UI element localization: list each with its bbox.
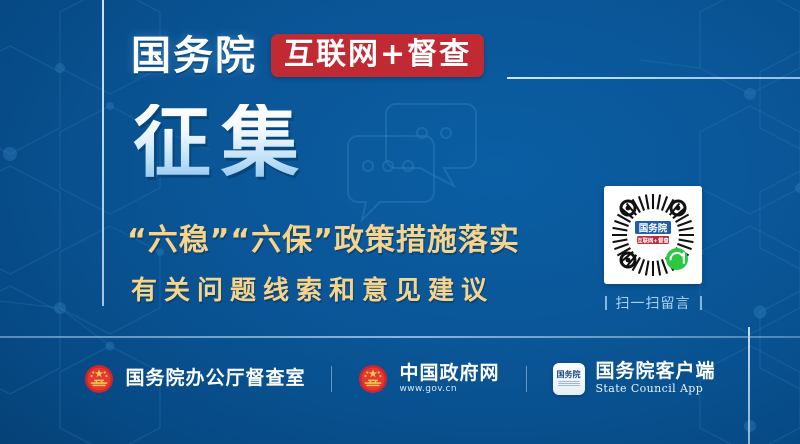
svg-text:互联网+督查: 互联网+督查 (637, 236, 669, 244)
qr-center-logo: 国务院 互联网+督查 (634, 220, 672, 246)
footer-logos: 国务院办公厅督查室 (0, 352, 800, 406)
caption-bar-right (700, 296, 702, 310)
footer-label-group: 中国政府网 www.gov.cn (399, 363, 499, 396)
footer-label-group: 国务院办公厅督查室 (125, 368, 305, 389)
poster-canvas: 国务院 互联网+督查 征集 “六稳”“六保”政策措施落实 有关问题线索和意见建议 (0, 0, 800, 444)
footer-item-state-council-app[interactable]: 国务院 国务院客户端 State Council App (527, 361, 742, 397)
app-icon-lines (558, 381, 580, 387)
footer-label-group: 国务院客户端 State Council App (596, 361, 716, 397)
horizontal-accent-line-top (507, 77, 800, 79)
qr-code-block[interactable]: 国务院 互联网+督查 扫一扫留言 (604, 186, 702, 313)
footer-title: 国务院办公厅督查室 (125, 368, 305, 389)
footer-title: 中国政府网 (399, 363, 499, 384)
footer-item-china-gov-website[interactable]: 中国政府网 www.gov.cn (332, 363, 525, 396)
org-title: 国务院 (131, 36, 257, 76)
app-icon: 国务院 (553, 363, 585, 395)
program-badge: 互联网+督查 (271, 34, 484, 77)
page-title: 征集 (133, 104, 309, 182)
footer-subtitle: www.gov.cn (399, 384, 499, 396)
subtitle-line-two: 有关问题线索和意见建议 (131, 278, 494, 304)
qr-caption-text: 扫一扫留言 (616, 293, 691, 313)
wechat-miniprogram-badge (666, 248, 688, 270)
footer-separator-line (0, 336, 800, 338)
qr-code-image[interactable]: 国务院 互联网+督查 (604, 186, 702, 284)
speech-bubbles-decoration (330, 92, 580, 232)
caption-bar-left (605, 296, 607, 310)
national-emblem-icon (84, 364, 114, 394)
vertical-accent-line-left (102, 0, 104, 306)
svg-text:国务院: 国务院 (639, 222, 668, 234)
footer-item-state-council-general-office[interactable]: 国务院办公厅督查室 (58, 364, 331, 394)
footer-subtitle: State Council App (596, 382, 716, 396)
national-emblem-icon (358, 364, 388, 394)
footer-title: 国务院客户端 (596, 361, 716, 382)
header-row: 国务院 互联网+督查 (131, 34, 484, 77)
qr-caption: 扫一扫留言 (604, 293, 702, 313)
subtitle-line-one: “六稳”“六保”政策措施落实 (127, 226, 520, 256)
app-icon-label: 国务院 (557, 371, 581, 379)
